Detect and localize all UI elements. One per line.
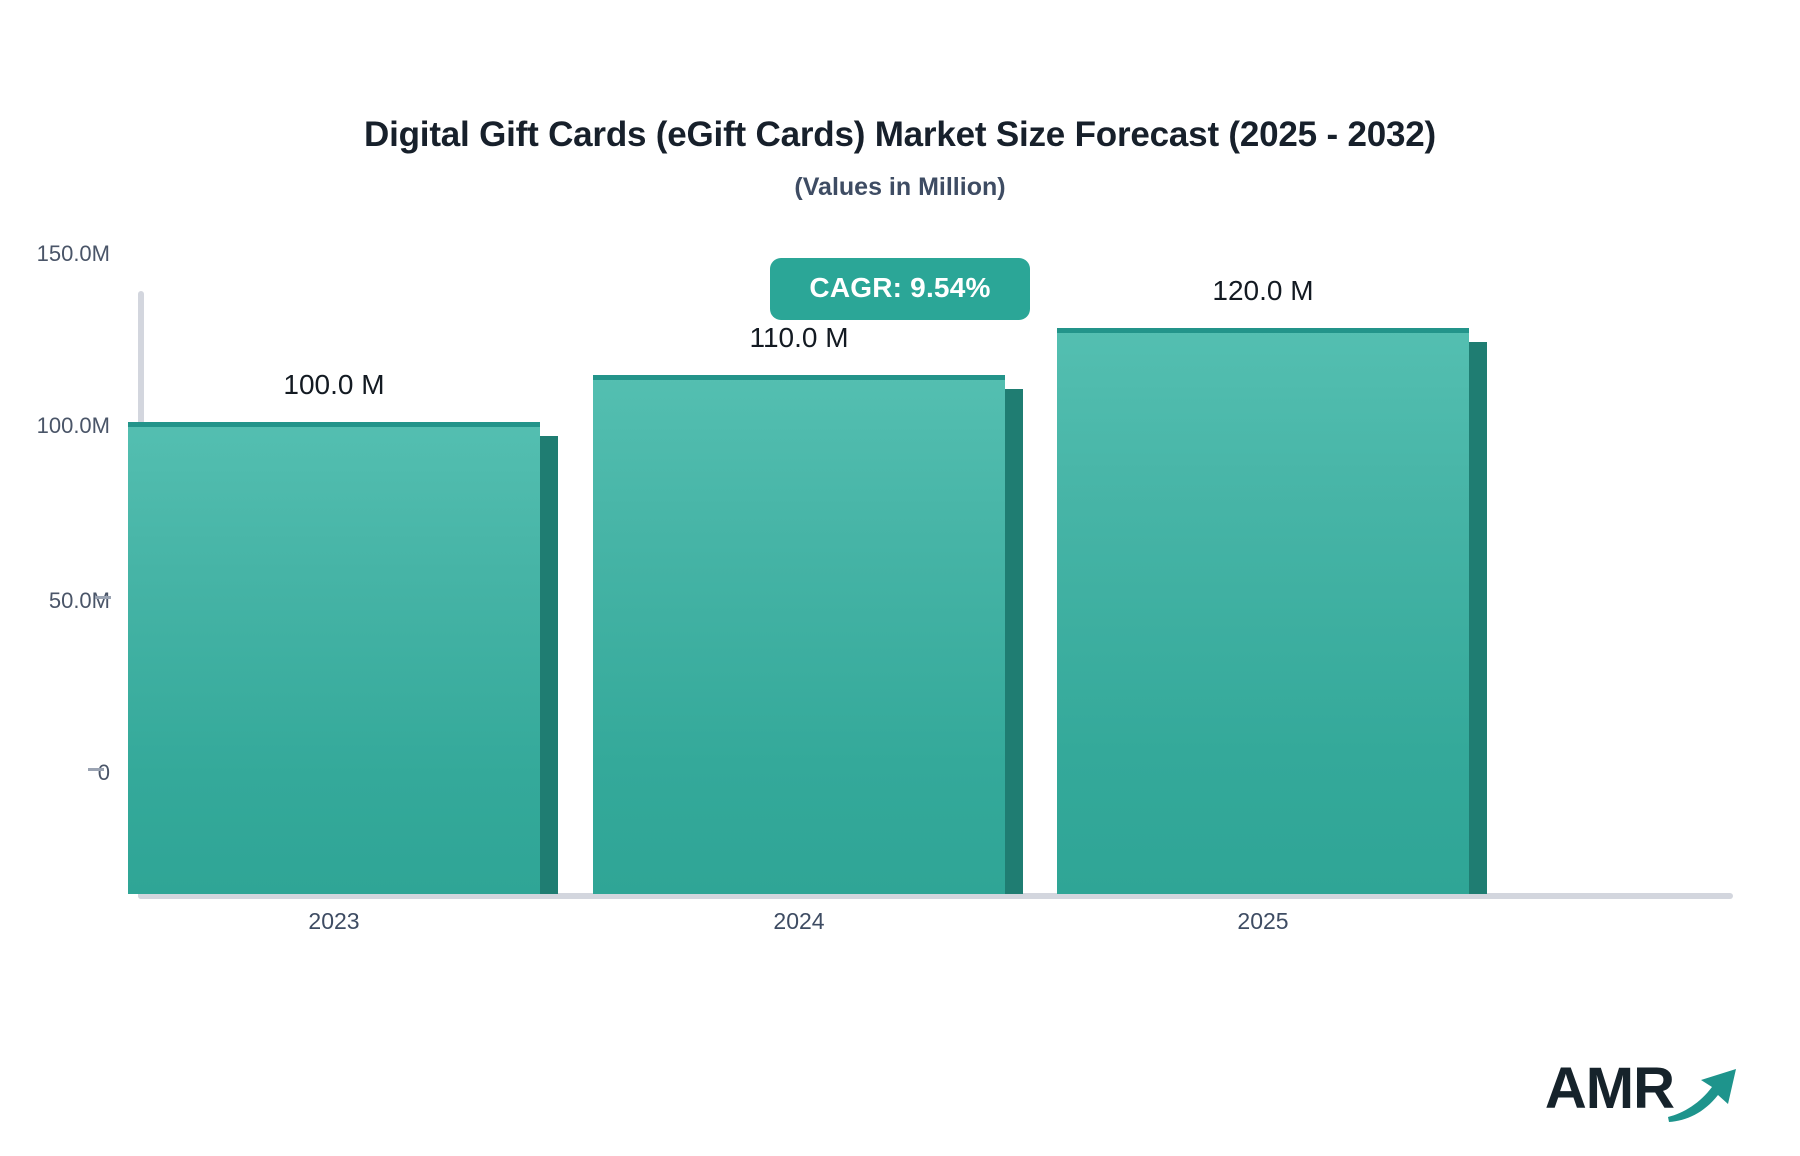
bar-value-label-2024: 110.0 M — [593, 324, 1005, 352]
bar-group-2023[interactable]: 100.0 M 2023 — [128, 422, 540, 894]
bar-chart-plot-area: 150.0M 100.0M 50.0M 0 100.0 M 2023 110.0… — [0, 0, 1800, 1156]
y-axis-tick-mark-0 — [88, 768, 104, 771]
bar-2024[interactable] — [593, 375, 1005, 894]
bar-value-label-2025: 120.0 M — [1057, 277, 1469, 305]
bar-side-shadow-2024 — [1005, 389, 1023, 894]
bar-2025[interactable] — [1057, 328, 1469, 894]
y-axis-tick-mark-50 — [95, 596, 111, 599]
amr-logo: AMR — [1545, 1060, 1742, 1118]
x-axis-tick-label-2024: 2024 — [593, 910, 1005, 933]
bar-2023[interactable] — [128, 422, 540, 894]
amr-wordmark: AMR — [1545, 1060, 1674, 1118]
bar-top-edge-2025 — [1057, 328, 1469, 333]
y-axis-tick-label-0: 0 — [0, 762, 110, 784]
bar-value-label-2023: 100.0 M — [128, 371, 540, 399]
bar-side-shadow-2023 — [540, 436, 558, 894]
bar-top-edge-2023 — [128, 422, 540, 427]
x-axis-tick-label-2023: 2023 — [128, 910, 540, 933]
x-axis-tick-label-2025: 2025 — [1057, 910, 1469, 933]
y-axis-tick-label-150: 150.0M — [0, 243, 110, 265]
bar-top-edge-2024 — [593, 375, 1005, 380]
bar-side-shadow-2025 — [1469, 342, 1487, 894]
bar-group-2024[interactable]: 110.0 M 2024 — [593, 375, 1005, 894]
bar-group-2025[interactable]: 120.0 M 2025 — [1057, 328, 1469, 894]
y-axis-tick-label-100: 100.0M — [0, 415, 110, 437]
y-axis-tick-label-50: 50.0M — [0, 590, 110, 612]
growth-arrow-icon — [1666, 1061, 1742, 1128]
